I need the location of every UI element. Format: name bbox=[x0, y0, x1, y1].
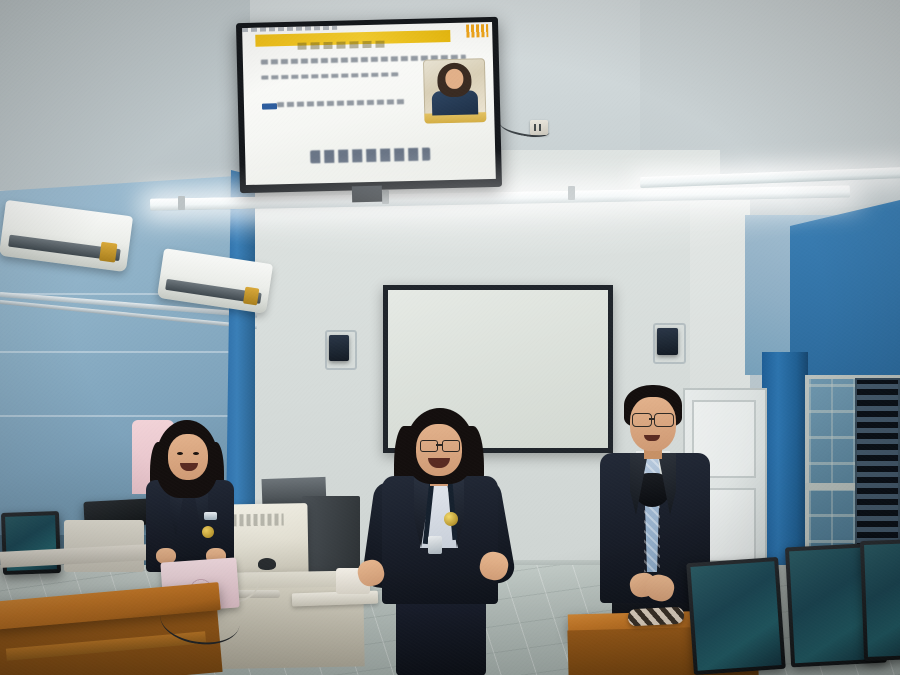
speaker-bracket bbox=[325, 330, 357, 370]
tv-screen bbox=[242, 22, 496, 185]
eye bbox=[177, 452, 183, 455]
slide-bullet-line bbox=[276, 99, 406, 107]
person-center bbox=[358, 408, 518, 675]
slide-byline bbox=[242, 26, 337, 32]
slide-bullet-icon bbox=[261, 103, 276, 109]
slide-body-line-2 bbox=[261, 72, 399, 79]
slide-header-text bbox=[298, 41, 388, 50]
light-clip bbox=[568, 186, 575, 200]
ac-indicator-light bbox=[99, 242, 118, 263]
speaker-bracket bbox=[653, 323, 686, 364]
wall-mounted-tv[interactable] bbox=[236, 17, 502, 193]
slide-header-bar bbox=[255, 30, 450, 47]
glasses-lens bbox=[420, 440, 438, 452]
slide-logo-icon bbox=[466, 24, 488, 38]
gold-brooch bbox=[444, 512, 458, 526]
slide-presenter-portrait bbox=[423, 58, 487, 123]
face bbox=[168, 434, 208, 480]
glasses-bridge bbox=[649, 418, 655, 420]
light-clip bbox=[382, 190, 389, 204]
wall-seam-line bbox=[0, 351, 252, 353]
computer-monitor-dark bbox=[686, 557, 786, 675]
person-left bbox=[132, 420, 244, 600]
wall-speaker bbox=[329, 335, 349, 361]
monitor-screen bbox=[690, 561, 781, 671]
computer-monitor-dark bbox=[860, 539, 900, 661]
skirt bbox=[396, 594, 486, 675]
monitor-screen bbox=[864, 543, 900, 657]
glasses-bridge bbox=[436, 444, 442, 446]
outlet-socket-holes bbox=[534, 124, 544, 131]
computer-mouse[interactable] bbox=[258, 558, 276, 570]
eye bbox=[193, 452, 199, 455]
glasses-lens bbox=[632, 413, 652, 427]
wall-speaker bbox=[657, 328, 678, 355]
power-outlet bbox=[530, 120, 548, 135]
photo-scene: Classroom presentation in a Thai compute… bbox=[0, 0, 900, 675]
wall-seam-line bbox=[0, 415, 252, 417]
gold-emblem-badge bbox=[202, 526, 214, 538]
tv-wall-mount bbox=[352, 186, 382, 203]
pencil-case[interactable] bbox=[628, 607, 685, 627]
glasses-lens bbox=[442, 440, 460, 452]
ac-indicator-light bbox=[243, 287, 260, 306]
portrait-face bbox=[445, 69, 463, 89]
name-badge bbox=[204, 512, 217, 520]
id-badge bbox=[428, 536, 442, 554]
glasses-lens bbox=[654, 413, 674, 427]
light-clip bbox=[178, 196, 185, 210]
slide-presenter-name bbox=[310, 148, 430, 164]
